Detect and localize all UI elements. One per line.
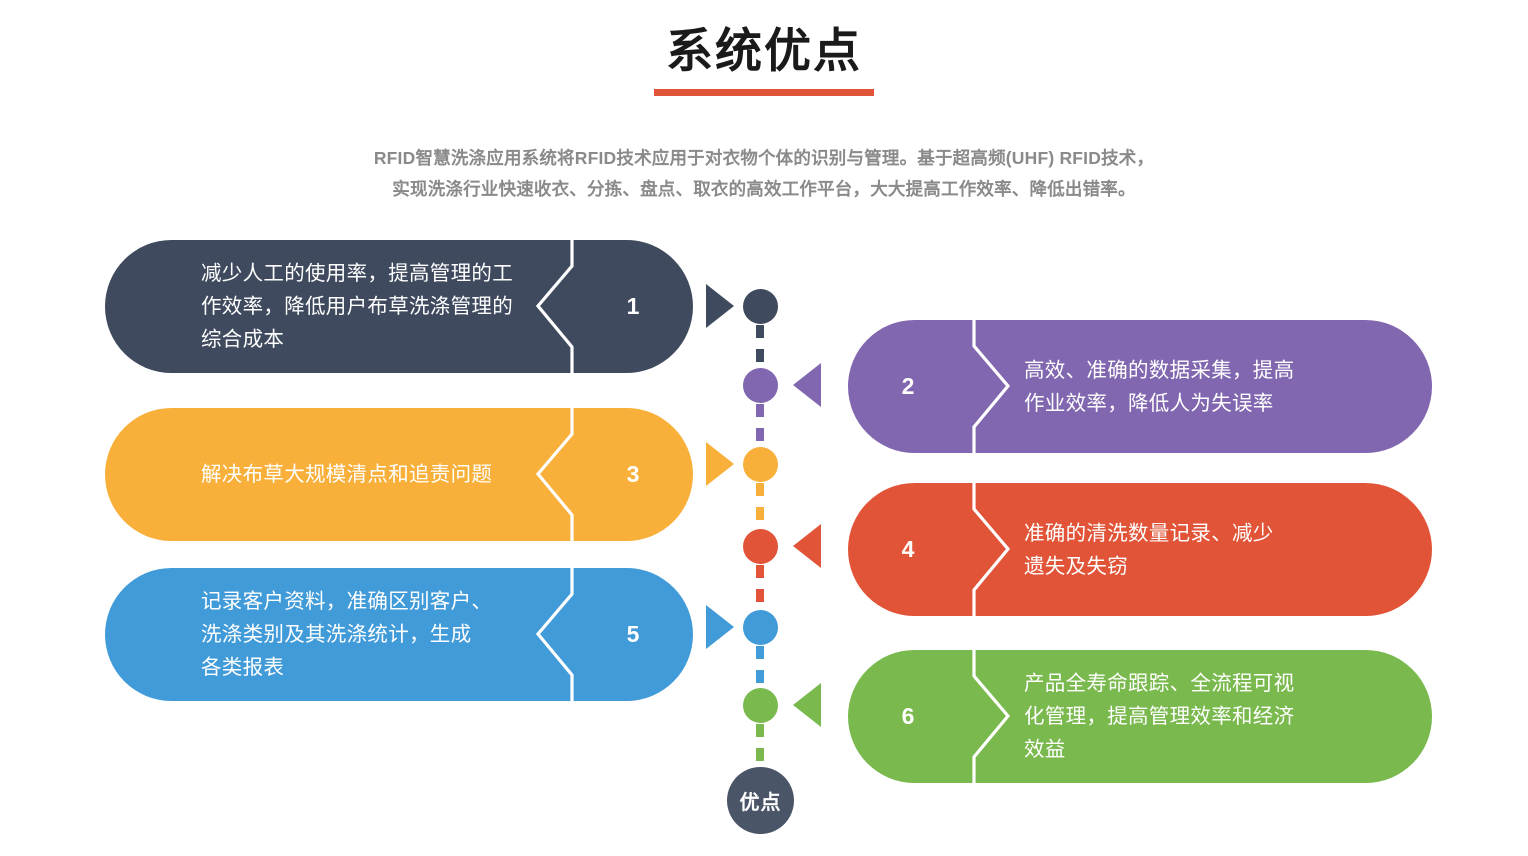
advantage-card-3[interactable]: 3解决布草大规模清点和追责问题 bbox=[105, 408, 693, 541]
timeline-dashes bbox=[756, 325, 764, 368]
card-text-line: 减少人工的使用率，提高管理的工 bbox=[201, 257, 513, 290]
card-text-line: 记录客户资料，准确区别客户、 bbox=[201, 585, 492, 618]
card-number-4: 4 bbox=[848, 483, 968, 616]
timeline-dashes bbox=[756, 646, 764, 688]
connector-arrow-2 bbox=[793, 363, 821, 407]
card-text-line: 产品全寿命跟踪、全流程可视 bbox=[1024, 667, 1294, 700]
timeline-dashes bbox=[756, 483, 764, 529]
subtitle-line-2: 实现洗涤行业快速收衣、分拣、盘点、取衣的高效工作平台，大大提高工作效率、降低出错… bbox=[264, 174, 1264, 205]
advantage-card-2[interactable]: 2高效、准确的数据采集，提高作业效率，降低人为失误率 bbox=[848, 320, 1432, 453]
page-title: 系统优点 bbox=[0, 22, 1528, 80]
timeline-dashes bbox=[756, 565, 764, 610]
chevron-divider-icon bbox=[958, 483, 1018, 616]
advantage-card-4[interactable]: 4准确的清洗数量记录、减少遗失及失窃 bbox=[848, 483, 1432, 616]
timeline-dot-1 bbox=[743, 289, 778, 324]
card-text-line: 解决布草大规模清点和追责问题 bbox=[201, 458, 492, 491]
card-number-1: 1 bbox=[573, 240, 693, 373]
card-text-line: 化管理，提高管理效率和经济 bbox=[1024, 700, 1294, 733]
card-text-5: 记录客户资料，准确区别客户、洗涤类别及其洗涤统计，生成各类报表 bbox=[201, 568, 541, 701]
subtitle-line-1: RFID智慧洗涤应用系统将RFID技术应用于对衣物个体的识别与管理。基于超高频(… bbox=[264, 143, 1264, 174]
card-text-line: 各类报表 bbox=[201, 651, 284, 684]
card-text-6: 产品全寿命跟踪、全流程可视化管理，提高管理效率和经济效益 bbox=[1024, 650, 1354, 783]
timeline-dot-5 bbox=[743, 610, 778, 645]
card-text-line: 遗失及失窃 bbox=[1024, 550, 1128, 583]
slide-canvas: 系统优点 RFID智慧洗涤应用系统将RFID技术应用于对衣物个体的识别与管理。基… bbox=[0, 0, 1528, 856]
card-number-6: 6 bbox=[848, 650, 968, 783]
title-underline bbox=[654, 89, 874, 96]
timeline-dashes bbox=[756, 724, 764, 767]
card-text-line: 洗涤类别及其洗涤统计，生成 bbox=[201, 618, 471, 651]
advantage-card-5[interactable]: 5记录客户资料，准确区别客户、洗涤类别及其洗涤统计，生成各类报表 bbox=[105, 568, 693, 701]
timeline-dot-4 bbox=[743, 529, 778, 564]
card-text-line: 高效、准确的数据采集，提高 bbox=[1024, 354, 1294, 387]
card-text-line: 效益 bbox=[1024, 733, 1066, 766]
connector-arrow-3 bbox=[706, 442, 734, 486]
chevron-divider-icon bbox=[958, 320, 1018, 453]
chevron-divider-icon bbox=[958, 650, 1018, 783]
card-text-line: 准确的清洗数量记录、减少 bbox=[1024, 517, 1274, 550]
card-text-2: 高效、准确的数据采集，提高作业效率，降低人为失误率 bbox=[1024, 320, 1354, 453]
card-text-line: 作效率，降低用户布草洗涤管理的 bbox=[201, 290, 513, 323]
card-text-3: 解决布草大规模清点和追责问题 bbox=[201, 408, 541, 541]
connector-arrow-5 bbox=[706, 605, 734, 649]
card-text-1: 减少人工的使用率，提高管理的工作效率，降低用户布草洗涤管理的综合成本 bbox=[201, 240, 541, 373]
advantage-card-6[interactable]: 6产品全寿命跟踪、全流程可视化管理，提高管理效率和经济效益 bbox=[848, 650, 1432, 783]
card-number-3: 3 bbox=[573, 408, 693, 541]
timeline-end-label: 优点 bbox=[740, 786, 782, 815]
card-text-4: 准确的清洗数量记录、减少遗失及失窃 bbox=[1024, 483, 1354, 616]
subtitle-paragraph: RFID智慧洗涤应用系统将RFID技术应用于对衣物个体的识别与管理。基于超高频(… bbox=[264, 143, 1264, 205]
timeline-dashes bbox=[756, 404, 764, 447]
timeline-dot-3 bbox=[743, 447, 778, 482]
advantage-card-1[interactable]: 1减少人工的使用率，提高管理的工作效率，降低用户布草洗涤管理的综合成本 bbox=[105, 240, 693, 373]
timeline-dot-2 bbox=[743, 368, 778, 403]
connector-arrow-1 bbox=[706, 284, 734, 328]
connector-arrow-6 bbox=[793, 683, 821, 727]
card-number-2: 2 bbox=[848, 320, 968, 453]
card-text-line: 作业效率，降低人为失误率 bbox=[1024, 387, 1274, 420]
timeline-dot-6 bbox=[743, 688, 778, 723]
card-number-5: 5 bbox=[573, 568, 693, 701]
card-text-line: 综合成本 bbox=[201, 323, 284, 356]
connector-arrow-4 bbox=[793, 524, 821, 568]
timeline-end-badge[interactable]: 优点 bbox=[727, 767, 794, 834]
